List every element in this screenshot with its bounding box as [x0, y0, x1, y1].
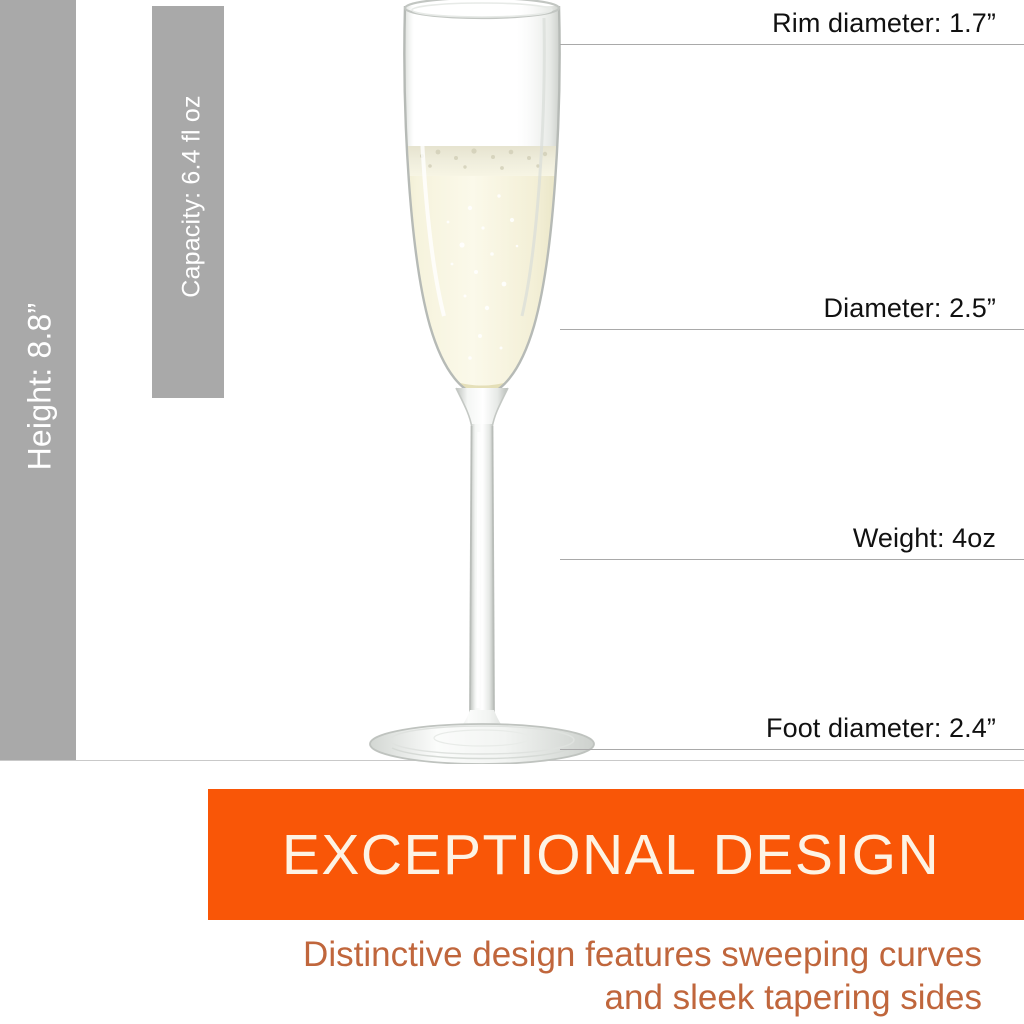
callout-foot-diameter-label: Foot diameter: 2.4”: [766, 713, 996, 744]
capacity-measure-label: Capacity: 6.4 fl oz: [178, 0, 207, 407]
callout-leader-line: [560, 749, 1024, 750]
callout-rim-diameter-label: Rim diameter: 1.7”: [772, 8, 996, 39]
product-caption: Distinctive design features sweeping cur…: [180, 934, 1004, 1019]
callout-leader-line: [560, 559, 1024, 560]
headline-banner: EXCEPTIONAL DESIGN: [208, 789, 1024, 920]
product-caption-line-2: and sleek tapering sides: [180, 977, 982, 1020]
height-measure-label: Height: 8.8”: [22, 177, 59, 597]
product-caption-line-1: Distinctive design features sweeping cur…: [180, 934, 982, 977]
champagne-flute-image: [352, 0, 612, 764]
callout-diameter-label: Diameter: 2.5”: [824, 293, 996, 324]
callout-weight-label: Weight: 4oz: [853, 523, 996, 554]
headline-banner-text: EXCEPTIONAL DESIGN: [282, 822, 950, 888]
infographic-canvas: Height: 8.8” Capacity: 6.4 fl oz: [0, 0, 1024, 1024]
callout-leader-line: [560, 44, 1024, 45]
callout-leader-line: [560, 329, 1024, 330]
